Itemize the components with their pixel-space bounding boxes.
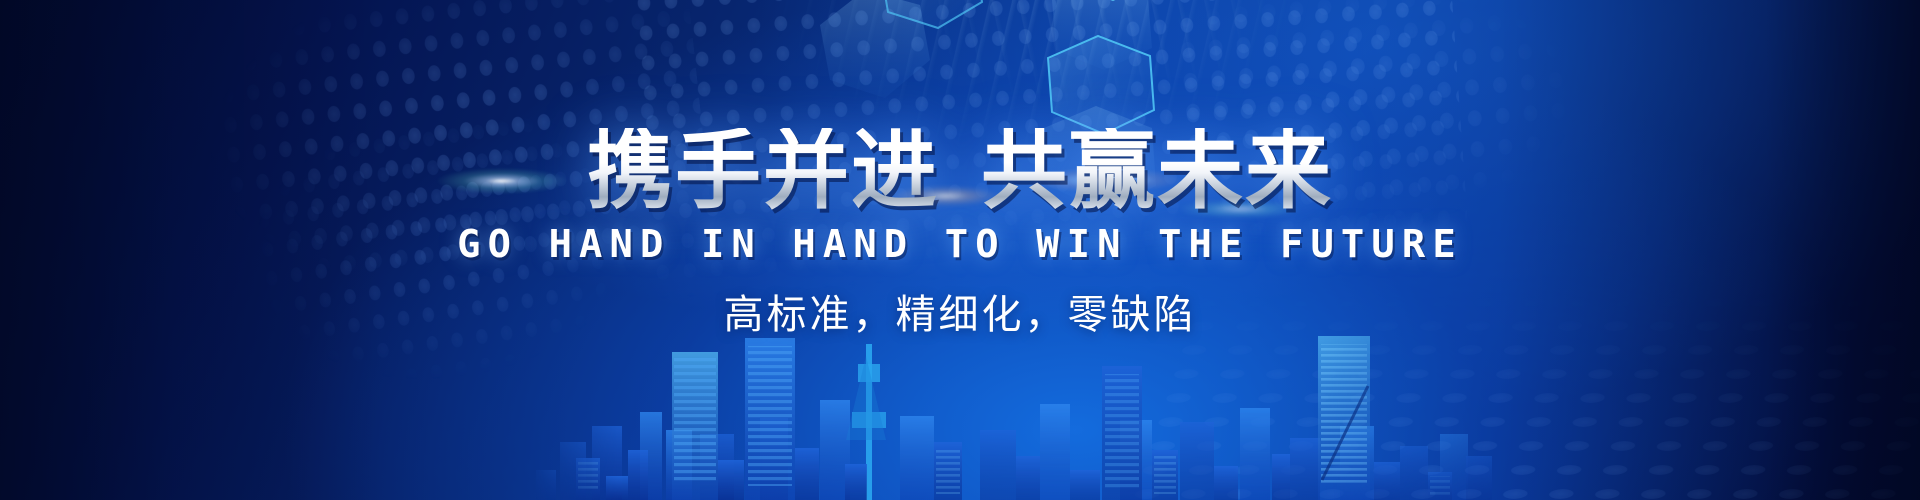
hero-banner: 携手并进共赢未来 GO HAND IN HAND TO WIN THE FUTU… (0, 0, 1920, 500)
edge-vignette (0, 0, 1920, 500)
